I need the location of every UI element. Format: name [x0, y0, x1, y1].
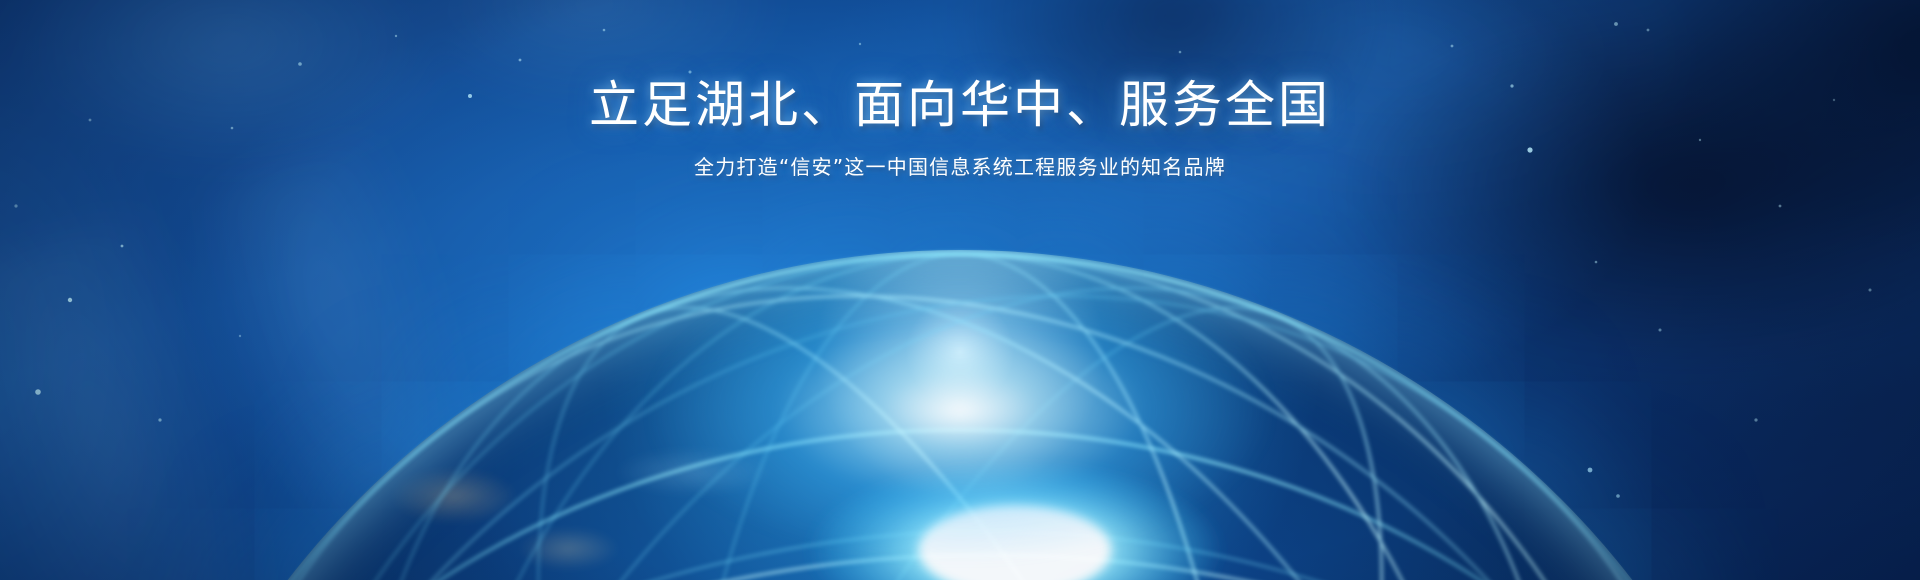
banner-headline: 立足湖北、面向华中、服务全国	[0, 76, 1920, 135]
globe-icon	[110, 250, 1810, 580]
banner-copy: 立足湖北、面向华中、服务全国 全力打造“信安”这一中国信息系统工程服务业的知名品…	[0, 76, 1920, 180]
hero-banner: 立足湖北、面向华中、服务全国 全力打造“信安”这一中国信息系统工程服务业的知名品…	[0, 0, 1920, 580]
network-arc-layer	[110, 250, 1810, 580]
banner-subheadline: 全力打造“信安”这一中国信息系统工程服务业的知名品牌	[0, 151, 1920, 180]
